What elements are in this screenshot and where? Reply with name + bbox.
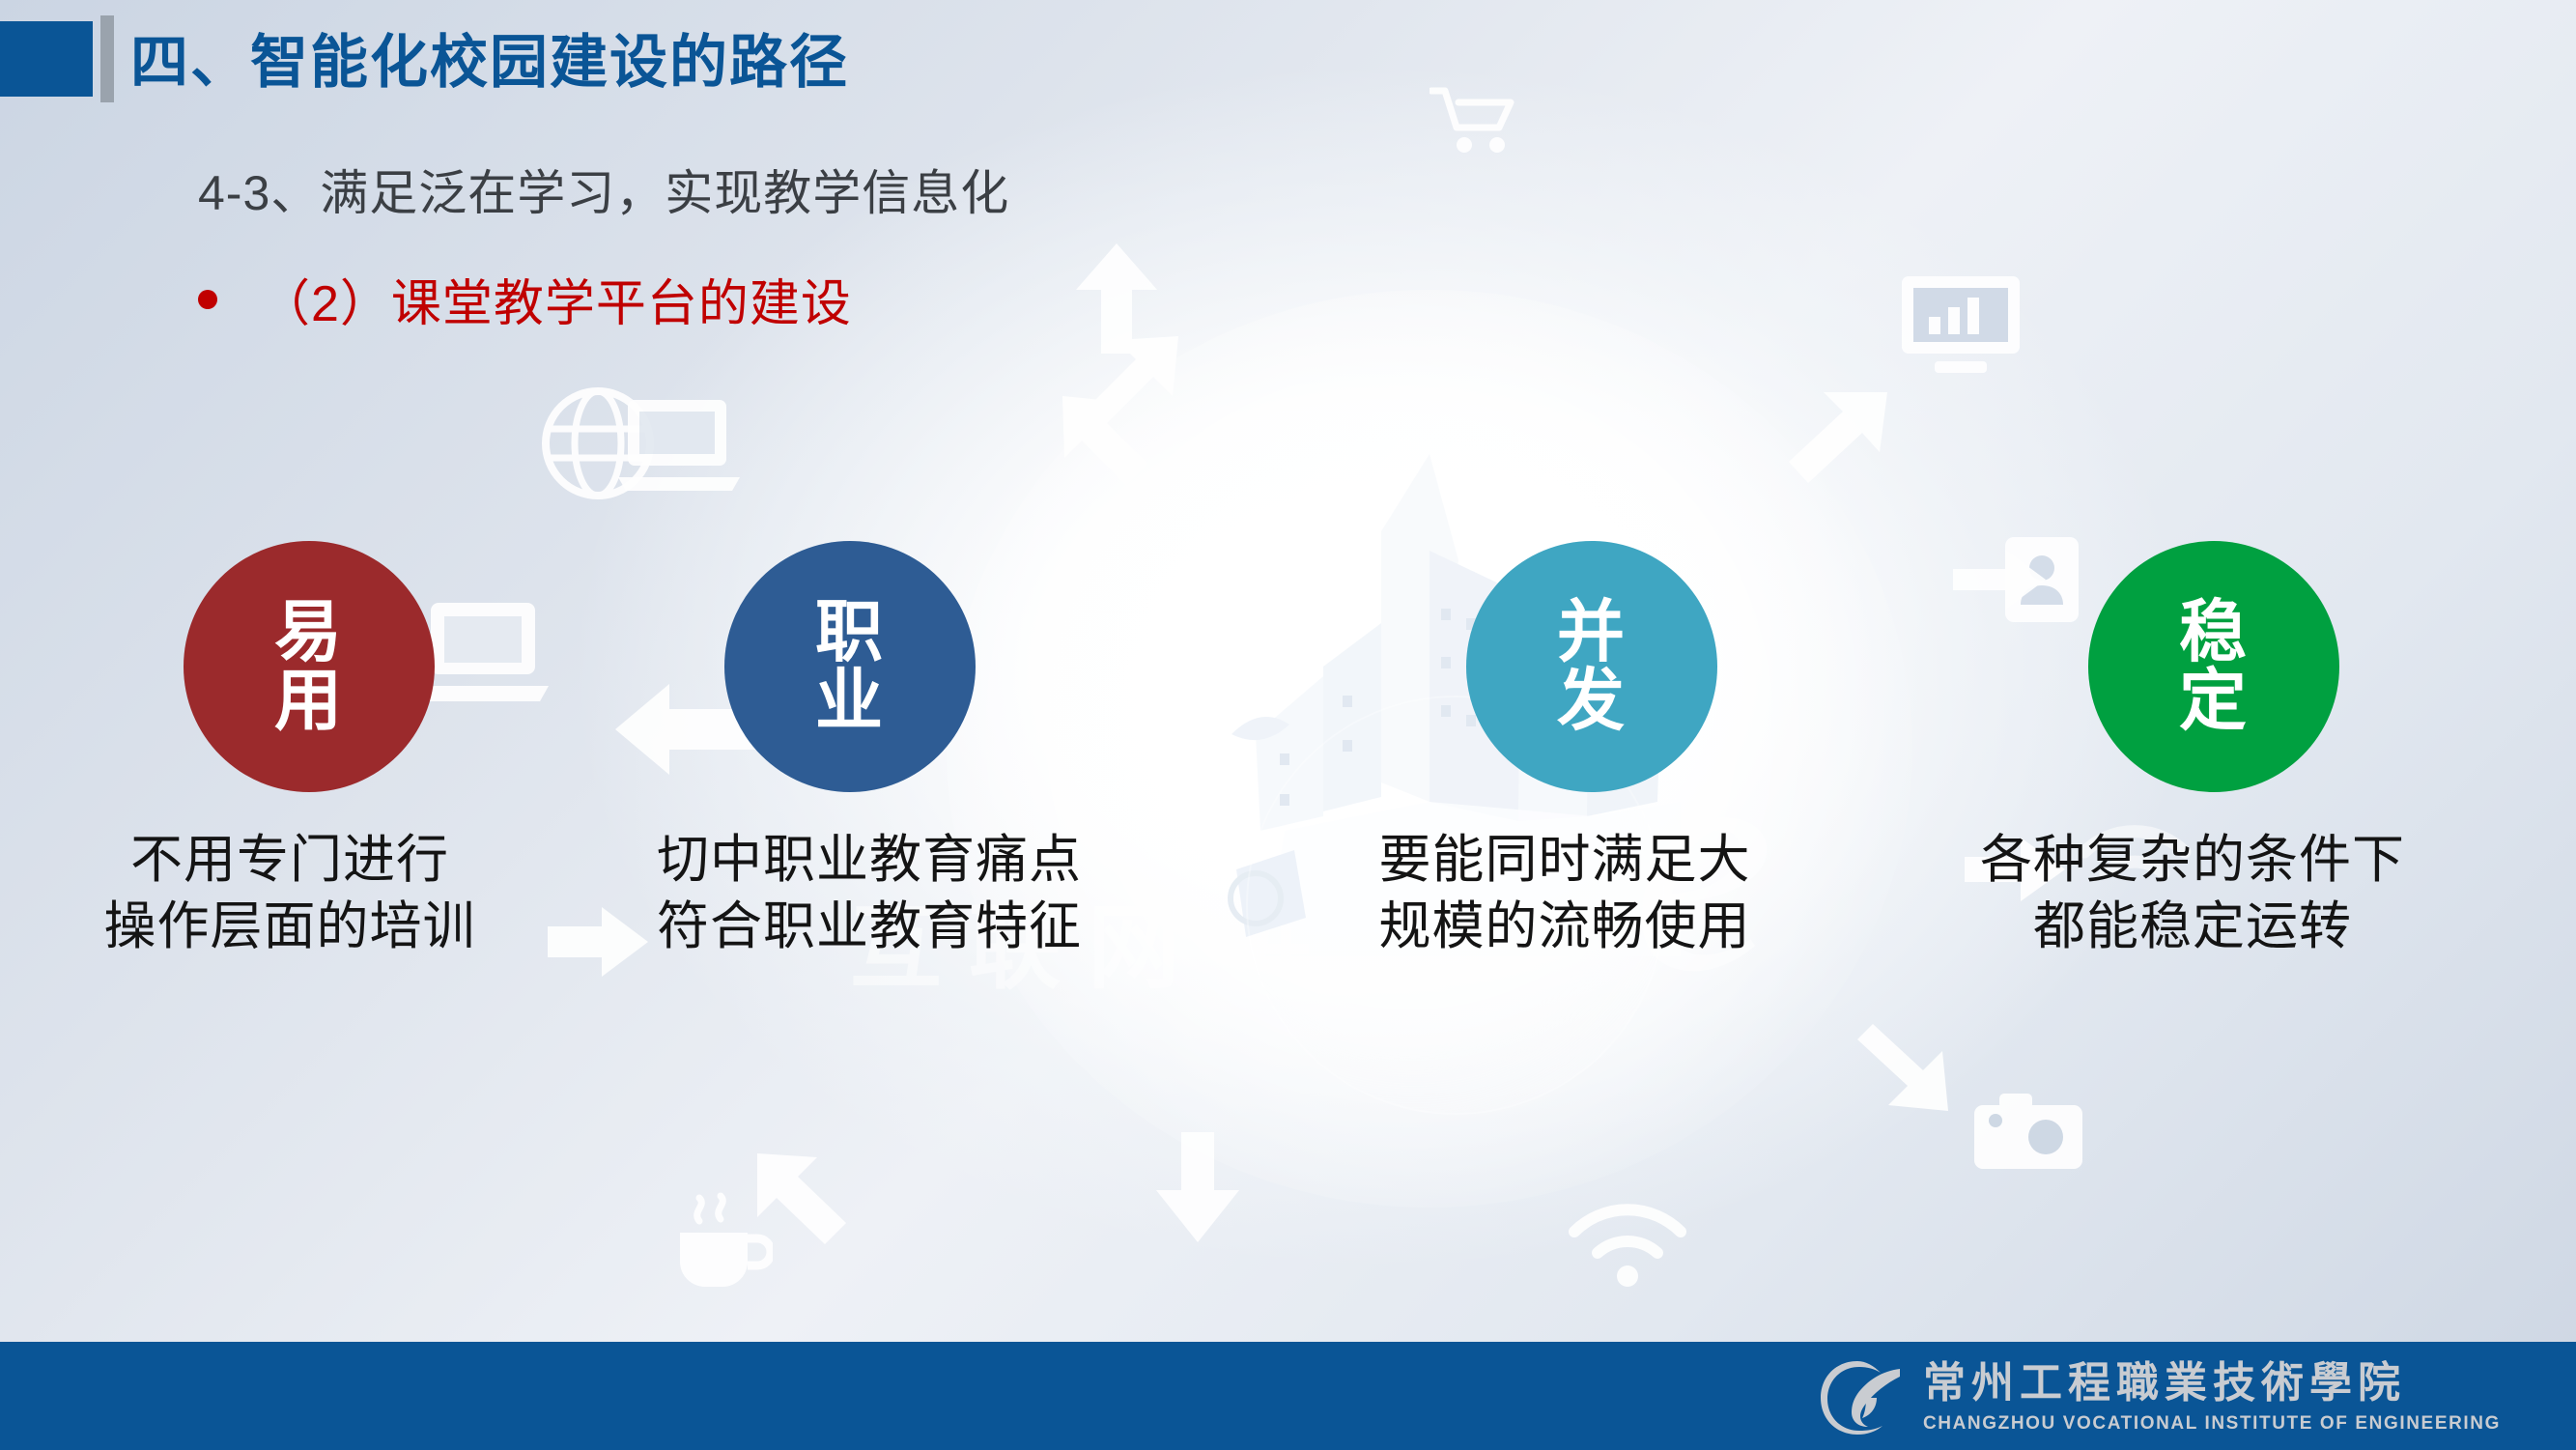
- feature-column-2: 职 业 切中职业教育痛点 符合职业教育特征: [599, 541, 1140, 960]
- badge-char-bottom: 定: [2179, 667, 2249, 735]
- caption-line-1: 各种复杂的条件下: [1922, 827, 2463, 894]
- feature-caption-1: 不用专门进行 操作层面的培训: [19, 827, 560, 960]
- feature-badge-3: 并 发: [1466, 541, 1717, 792]
- feature-column-1: 易 用 不用专门进行 操作层面的培训: [19, 541, 560, 960]
- badge-char-bottom: 用: [274, 667, 344, 735]
- badge-char-bottom: 发: [1557, 667, 1627, 735]
- feature-caption-2: 切中职业教育痛点 符合职业教育特征: [599, 827, 1140, 960]
- badge-char-top: 职: [815, 598, 885, 667]
- feature-column-3: 并 发 要能同时满足大 规模的流畅使用: [1294, 541, 1835, 960]
- school-name-cn: 常州工程職業技術學院: [1923, 1361, 2501, 1406]
- caption-line-1: 切中职业教育痛点: [599, 827, 1140, 894]
- school-logo: 常州工程職業技術學院 CHANGZHOU VOCATIONAL INSTITUT…: [1813, 1355, 2501, 1440]
- feature-badge-4: 稳 定: [2088, 541, 2339, 792]
- feature-caption-3: 要能同时满足大 规模的流畅使用: [1294, 827, 1835, 960]
- badge-char-bottom: 业: [815, 667, 885, 735]
- badge-char-top: 并: [1557, 598, 1627, 667]
- feature-badge-1: 易 用: [184, 541, 435, 792]
- school-name-en: CHANGZHOU VOCATIONAL INSTITUTE OF ENGINE…: [1923, 1413, 2501, 1435]
- badge-char-top: 稳: [2179, 598, 2249, 667]
- feature-columns: 易 用 不用专门进行 操作层面的培训 职 业 切中职业教育痛点 符合职业教育特征…: [0, 0, 2576, 1450]
- school-name-block: 常州工程職業技術學院 CHANGZHOU VOCATIONAL INSTITUT…: [1923, 1361, 2501, 1435]
- feature-column-4: 稳 定 各种复杂的条件下 都能稳定运转: [1922, 541, 2463, 960]
- slide-canvas: e 互联网 + 四、智能化校园建设的路径 4-3、满足泛在学习，实现教学信息化 …: [0, 0, 2576, 1450]
- caption-line-2: 符合职业教育特征: [599, 894, 1140, 960]
- feature-badge-2: 职 业: [724, 541, 976, 792]
- footer-bar: 常州工程職業技術學院 CHANGZHOU VOCATIONAL INSTITUT…: [0, 1342, 2576, 1450]
- badge-char-top: 易: [274, 598, 344, 667]
- caption-line-1: 不用专门进行: [19, 827, 560, 894]
- caption-line-1: 要能同时满足大: [1294, 827, 1835, 894]
- caption-line-2: 规模的流畅使用: [1294, 894, 1835, 960]
- school-emblem-icon: [1813, 1355, 1906, 1440]
- caption-line-2: 都能稳定运转: [1922, 894, 2463, 960]
- feature-caption-4: 各种复杂的条件下 都能稳定运转: [1922, 827, 2463, 960]
- caption-line-2: 操作层面的培训: [19, 894, 560, 960]
